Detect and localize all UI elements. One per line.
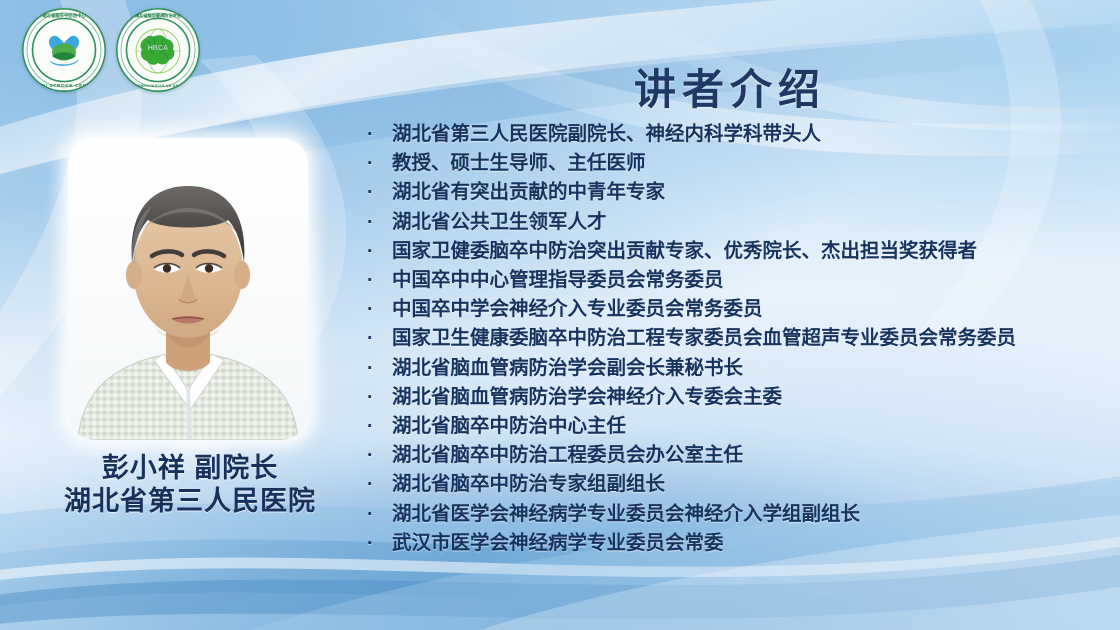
speaker-photo (68, 138, 308, 440)
bullet-icon: · (367, 266, 374, 295)
bullet-icon: · (367, 383, 374, 412)
bio-list-item-label: 教授、硕士生导师、主任医师 (392, 152, 646, 174)
bullet-icon: · (367, 470, 374, 499)
bullet-icon: · (367, 354, 374, 383)
bullet-icon: · (367, 324, 374, 353)
bio-list-item: ·国家卫生健康委脑卒中防治工程专家委员会血管超声专业委员会常务委员 (362, 324, 1092, 353)
bio-list-item: ·湖北省脑卒中防治专家组副组长 (362, 470, 1092, 499)
bullet-icon: · (367, 120, 374, 149)
page-title: 讲者介绍 (420, 56, 1040, 117)
bio-list-item: ·湖北省有突出贡献的中青年专家 (362, 178, 1092, 207)
svg-text:HBCA: HBCA (148, 45, 168, 52)
bio-list-item-label: 国家卫健委脑卒中防治突出贡献专家、优秀院长、杰出担当奖获得者 (392, 240, 977, 262)
bio-list-item-label: 中国卒中中心管理指导委员会常务委员 (392, 269, 724, 291)
bio-list-item: ·湖北省第三人民医院副院长、神经内科学科带头人 (362, 120, 1092, 149)
bio-list-item-label: 武汉市医学会神经病学专业委员会常委 (392, 532, 724, 554)
bio-list-item-label: 湖北省脑卒中防治中心主任 (392, 415, 626, 437)
bio-list-item-label: 中国卒中学会神经介入专业委员会常务委员 (392, 298, 763, 320)
bullet-icon: · (367, 149, 374, 178)
speaker-affiliation: 湖北省第三人民医院 (30, 485, 350, 518)
logo-group: 湖北省脑卒中防治中心 HUBEI STROKE CENTER HBCA (22, 8, 200, 92)
bio-list-item: ·湖北省公共卫生领军人才 (362, 208, 1092, 237)
bio-list-item: ·湖北省医学会神经病学专业委员会神经介入学组副组长 (362, 500, 1092, 529)
bio-list-item: ·湖北省脑卒中防治中心主任 (362, 412, 1092, 441)
bullet-icon: · (367, 529, 374, 558)
bio-list-item-label: 国家卫生健康委脑卒中防治工程专家委员会血管超声专业委员会常务委员 (392, 327, 1016, 349)
bullet-icon: · (367, 500, 374, 529)
bio-list-item-label: 湖北省脑卒中防治专家组副组长 (392, 473, 665, 495)
speaker-bio-list: ·湖北省第三人民医院副院长、神经内科学科带头人·教授、硕士生导师、主任医师·湖北… (362, 120, 1092, 558)
bio-list-item: ·湖北省脑血管病防治学会神经介入专委会主委 (362, 383, 1092, 412)
bio-list-item: ·中国卒中学会神经介入专业委员会常务委员 (362, 295, 1092, 324)
bullet-icon: · (367, 237, 374, 266)
hubei-cerebrovascular-association-logo: HBCA 湖北省脑血管病防治学会 HUBEI CEREBROVASCULAR A… (116, 8, 200, 92)
bio-list-item: ·教授、硕士生导师、主任医师 (362, 149, 1092, 178)
bio-list-item-label: 湖北省医学会神经病学专业委员会神经介入学组副组长 (392, 503, 860, 525)
bullet-icon: · (367, 208, 374, 237)
speaker-caption: 彭小祥 副院长 湖北省第三人民医院 (30, 452, 350, 518)
svg-text:HUBEI STROKE CENTER: HUBEI STROKE CENTER (30, 83, 99, 89)
bio-list-item: ·武汉市医学会神经病学专业委员会常委 (362, 529, 1092, 558)
bio-list-item: ·国家卫健委脑卒中防治突出贡献专家、优秀院长、杰出担当奖获得者 (362, 237, 1092, 266)
bio-list-item-label: 湖北省公共卫生领军人才 (392, 211, 607, 233)
bullet-icon: · (367, 178, 374, 207)
bio-list-item: ·湖北省脑血管病防治学会副会长兼秘书长 (362, 354, 1092, 383)
slide-canvas: 湖北省脑卒中防治中心 HUBEI STROKE CENTER HBCA (0, 0, 1120, 630)
bio-list-item-label: 湖北省脑血管病防治学会神经介入专委会主委 (392, 386, 782, 408)
bio-list-item-label: 湖北省有突出贡献的中青年专家 (392, 181, 665, 203)
bullet-icon: · (367, 412, 374, 441)
speaker-name: 彭小祥 副院长 (102, 453, 279, 483)
hubei-stroke-center-logo: 湖北省脑卒中防治中心 HUBEI STROKE CENTER (22, 8, 106, 92)
bio-list-item: ·湖北省脑卒中防治工程委员会办公室主任 (362, 441, 1092, 470)
bio-list-item-label: 湖北省脑血管病防治学会副会长兼秘书长 (392, 357, 743, 379)
bullet-icon: · (367, 441, 374, 470)
bio-list-item-label: 湖北省第三人民医院副院长、神经内科学科带头人 (392, 123, 821, 145)
svg-text:HUBEI CEREBROVASCULAR ASSOCIAT: HUBEI CEREBROVASCULAR ASSOCIATION (116, 84, 200, 88)
bio-list-item: ·中国卒中中心管理指导委员会常务委员 (362, 266, 1092, 295)
bio-list-item-label: 湖北省脑卒中防治工程委员会办公室主任 (392, 444, 743, 466)
bullet-icon: · (367, 295, 374, 324)
